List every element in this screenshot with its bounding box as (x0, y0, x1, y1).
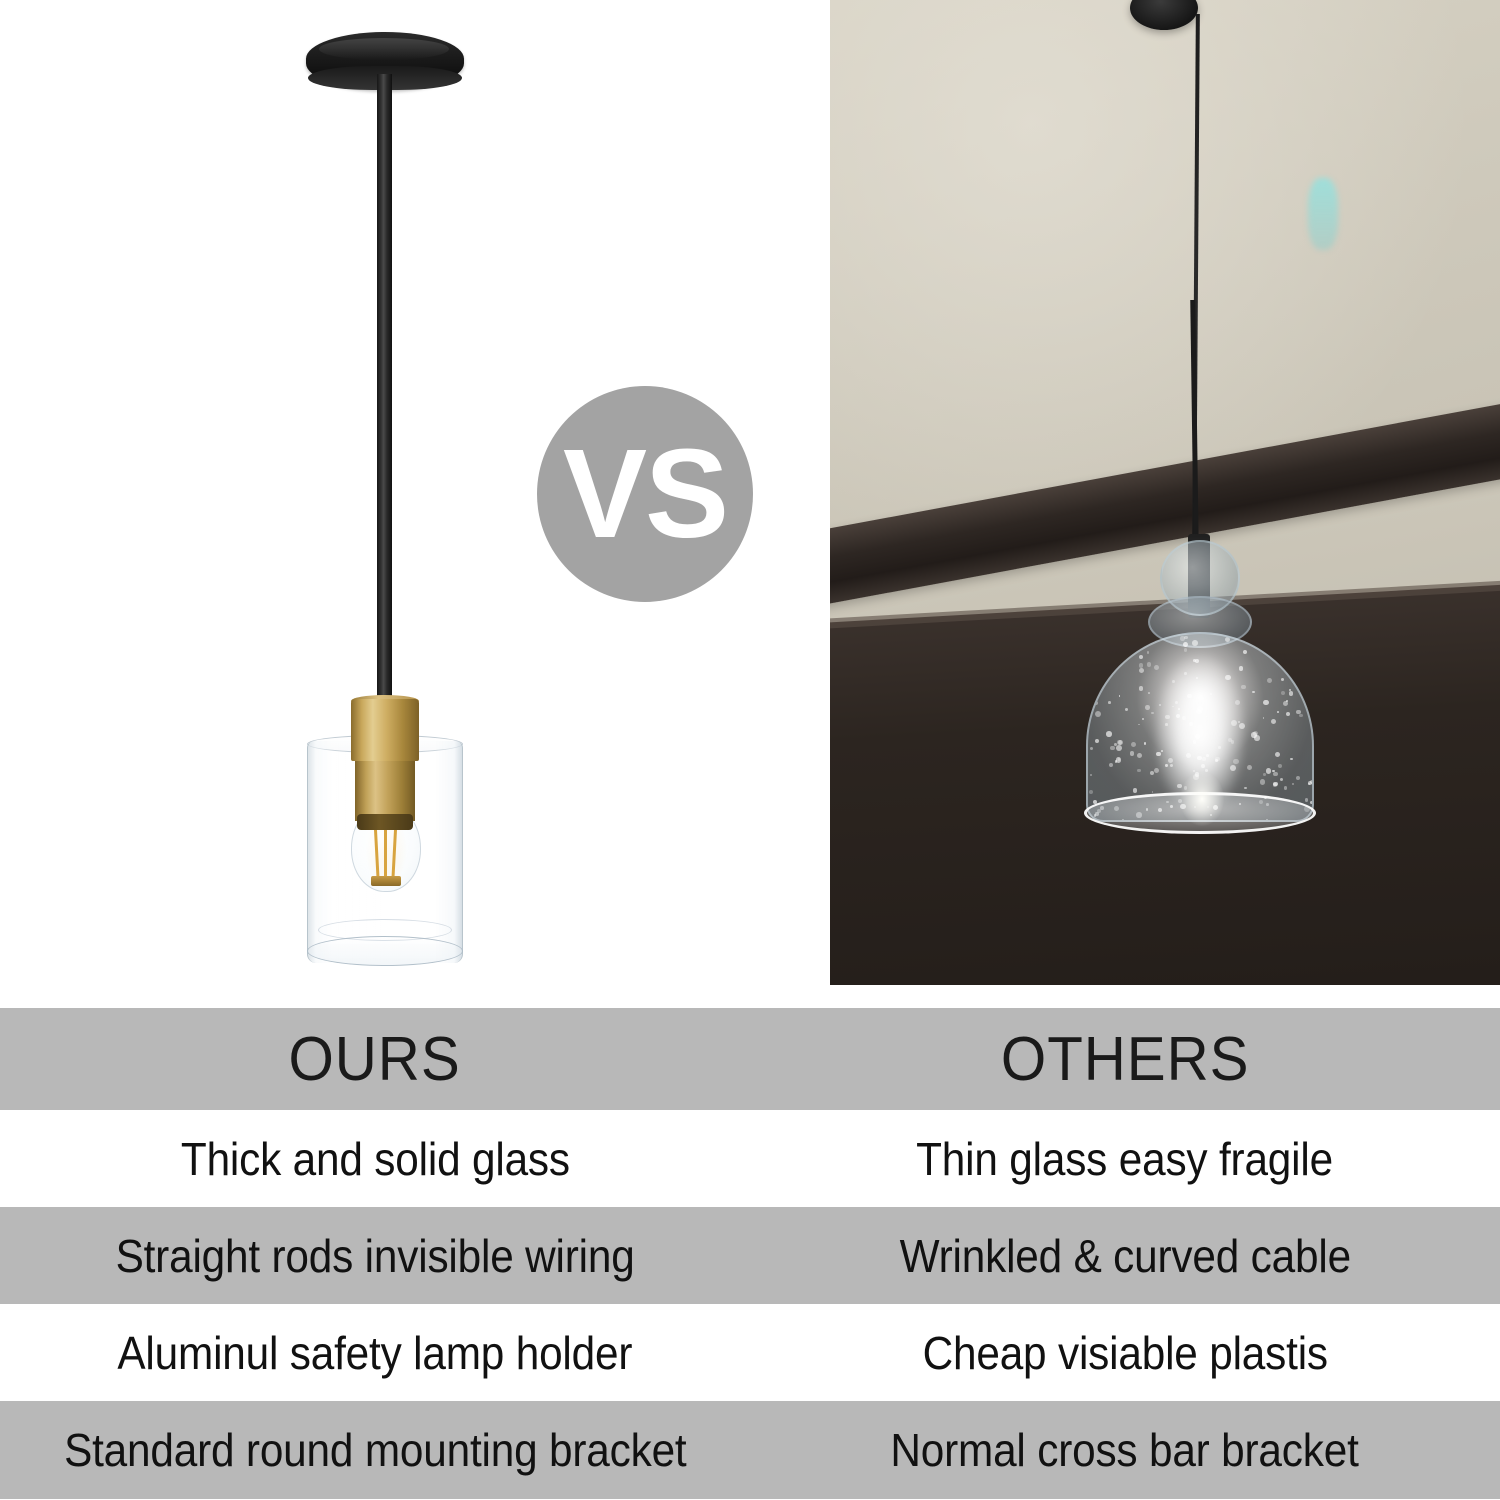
glass-seed-bubble (1125, 708, 1128, 711)
glass-seed-bubble (1251, 732, 1256, 737)
glass-seed-bubble (1184, 636, 1187, 639)
glass-seed-bubble (1103, 661, 1106, 664)
glass-seed-bubble (1106, 731, 1112, 737)
glass-seed-bubble (1293, 644, 1297, 648)
glass-seed-bubble (1284, 786, 1287, 789)
glass-seed-bubble (1144, 742, 1147, 745)
glass-seed-bubble (1278, 764, 1282, 768)
others-feature-label: Thin glass easy fragile (917, 1132, 1334, 1186)
table-row: Aluminul safety lamp holder Cheap visiab… (0, 1304, 1500, 1401)
ours-feature-label: Standard round mounting bracket (64, 1423, 686, 1477)
glass-seed-bubble (1281, 691, 1285, 695)
glass-seed-bubble (1271, 719, 1276, 724)
glass-seed-bubble (1260, 779, 1266, 785)
glass-seed-bubble (1131, 742, 1136, 747)
others-product-photo (830, 0, 1500, 985)
glass-seed-bubble (1151, 712, 1154, 715)
header-cell-ours: OURS (0, 1008, 750, 1110)
vs-label: VS (563, 431, 727, 557)
glass-seed-bubble (1139, 663, 1144, 668)
glass-seed-bubble (1292, 783, 1295, 786)
glass-seed-bubble (1108, 701, 1111, 704)
glass-seed-bubble (1095, 658, 1100, 663)
glass-seed-bubble (1142, 718, 1144, 720)
glass-seed-bubble (1241, 685, 1246, 690)
glass-seed-bubble (1109, 763, 1113, 767)
brass-socket-base (357, 814, 413, 830)
glass-seed-bubble (1263, 700, 1269, 706)
others-feature-label: Wrinkled & curved cable (899, 1229, 1350, 1283)
glass-seed-bubble (1192, 640, 1198, 646)
glass-seed-bubble (1273, 783, 1277, 787)
glass-seed-bubble (1299, 714, 1302, 717)
glass-seed-bubble (1089, 790, 1093, 794)
glass-seed-bubble (1252, 691, 1255, 694)
comparison-table: OURS OTHERS Thick and solid glass Thin g… (0, 1008, 1500, 1500)
glass-seed-bubble (1289, 691, 1294, 696)
glass-seed-bubble (1281, 678, 1284, 681)
brass-lamp-holder-upper (351, 699, 419, 761)
ours-feature-cell: Thick and solid glass (0, 1110, 750, 1207)
glass-seed-bubble (1280, 778, 1283, 781)
glass-seed-bubble (1184, 648, 1187, 651)
glass-seed-bubble (1283, 701, 1288, 706)
bulb-base (371, 876, 401, 886)
others-feature-cell: Thin glass easy fragile (750, 1110, 1500, 1207)
table-row: Thick and solid glass Thin glass easy fr… (0, 1110, 1500, 1207)
others-feature-label: Normal cross bar bracket (891, 1423, 1359, 1477)
glass-seed-bubble (1137, 753, 1143, 759)
others-header-label: OTHERS (1001, 1024, 1249, 1095)
ours-feature-cell: Aluminul safety lamp holder (0, 1304, 750, 1401)
glass-seed-bubble (1116, 745, 1122, 751)
others-feature-cell: Wrinkled & curved cable (750, 1207, 1500, 1304)
ours-feature-cell: Straight rods invisible wiring (0, 1207, 750, 1304)
imagery-area: VS (0, 0, 1500, 1008)
canopy-highlight (319, 38, 449, 60)
glass-seed-bubble (1137, 769, 1140, 772)
pendant-light-illustration (285, 14, 485, 974)
glass-seed-bubble (1094, 694, 1098, 698)
glass-seed-bubble (1148, 692, 1150, 694)
ours-feature-label: Thick and solid glass (181, 1132, 570, 1186)
glass-seed-bubble (1095, 711, 1101, 717)
brass-lamp-holder-lower (355, 761, 415, 821)
glass-seed-bubble (1110, 746, 1115, 751)
glass-seed-bubble (1296, 710, 1301, 715)
glass-seed-bubble (1266, 768, 1272, 774)
glass-seed-bubble (1305, 798, 1309, 802)
glass-seed-bubble (1145, 705, 1150, 710)
glass-seed-bubble (1150, 771, 1154, 775)
glass-seed-bubble (1116, 757, 1122, 763)
glass-shade-bottom-rim (307, 936, 463, 966)
glass-seed-bubble (1107, 648, 1110, 651)
glass-seed-bubble (1139, 668, 1144, 673)
glass-seed-bubble (1090, 774, 1092, 776)
glass-seed-bubble (1267, 678, 1272, 683)
glass-seed-bubble (1275, 752, 1280, 757)
glass-seed-bubble (1117, 657, 1119, 659)
glass-seed-bubble (1290, 758, 1293, 761)
glass-seed-bubble (1244, 787, 1246, 789)
glass-seed-bubble (1133, 788, 1138, 793)
glass-seed-bubble (1097, 681, 1099, 683)
glass-seed-bubble (1090, 747, 1093, 750)
glass-seed-bubble (1094, 701, 1098, 705)
glass-seed-bubble (1286, 712, 1290, 716)
glass-seed-bubble (1247, 765, 1252, 770)
glass-seed-bubble (1154, 665, 1159, 670)
ours-feature-cell: Standard round mounting bracket (0, 1401, 750, 1499)
glass-seed-bubble (1146, 643, 1149, 646)
glass-seed-bubble (1095, 739, 1099, 743)
glass-seed-bubble (1183, 642, 1188, 647)
glass-seed-bubble (1296, 776, 1301, 781)
glass-seed-bubble (1139, 655, 1143, 659)
glass-seed-bubble (1277, 711, 1279, 713)
others-feature-cell: Cheap visiable plastis (750, 1304, 1500, 1401)
glass-seed-bubble (1273, 772, 1278, 777)
ours-feature-label: Aluminul safety lamp holder (118, 1326, 633, 1380)
glass-seed-bubble (1243, 650, 1247, 654)
table-header-row: OURS OTHERS (0, 1008, 1500, 1110)
table-row: Straight rods invisible wiring Wrinkled … (0, 1207, 1500, 1304)
glass-seed-bubble (1270, 654, 1272, 656)
glass-seed-bubble (1147, 662, 1151, 666)
glass-seed-bubble (1130, 751, 1134, 755)
glass-seed-bubble (1263, 717, 1265, 719)
ours-header-label: OURS (289, 1024, 461, 1095)
glass-seed-bubble (1119, 695, 1121, 697)
glass-seed-bubble (1180, 636, 1185, 641)
others-feature-cell: Normal cross bar bracket (750, 1401, 1500, 1499)
glass-seed-bubble (1287, 672, 1291, 676)
ours-feature-label: Straight rods invisible wiring (115, 1229, 634, 1283)
glass-seed-bubble (1255, 639, 1261, 645)
glass-seed-bubble (1263, 773, 1266, 776)
others-feature-label: Cheap visiable plastis (922, 1326, 1327, 1380)
lit-bulb-glow (1180, 772, 1224, 826)
glass-seed-bubble (1248, 636, 1252, 640)
glass-seed-bubble (1308, 781, 1312, 785)
glass-seed-bubble (1225, 637, 1231, 643)
seeded-glass-pendant (1080, 534, 1320, 834)
glass-seed-bubble (1138, 724, 1140, 726)
product-comparison-page: VS (0, 0, 1500, 1500)
header-cell-others: OTHERS (750, 1008, 1500, 1110)
glass-seed-bubble (1139, 686, 1144, 691)
glass-seed-bubble (1147, 651, 1150, 654)
glass-seed-bubble (1310, 801, 1314, 805)
teal-light-reflection (1308, 178, 1338, 250)
pendant-rod (377, 74, 392, 704)
glass-seed-bubble (1130, 646, 1135, 651)
vs-badge-icon: VS (537, 386, 753, 602)
glass-seed-bubble (1239, 666, 1244, 671)
table-row: Standard round mounting bracket Normal c… (0, 1401, 1500, 1499)
glass-seed-bubble (1118, 740, 1123, 745)
glass-seed-bubble (1302, 671, 1306, 675)
